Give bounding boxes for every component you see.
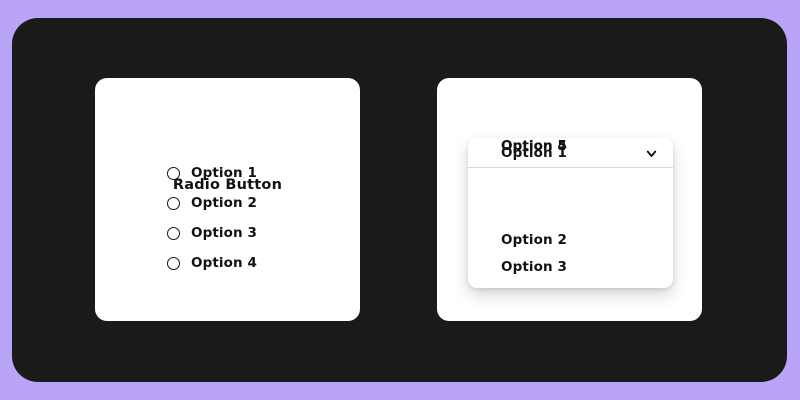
radio-circle-icon[interactable]	[167, 167, 180, 180]
radio-circle-icon[interactable]	[167, 197, 180, 210]
radio-circle-icon[interactable]	[167, 257, 180, 270]
radio-option-4[interactable]: Option 4	[167, 254, 257, 272]
radio-option-1[interactable]: Option 1	[167, 164, 257, 182]
dropdown-item-option-5[interactable]: Option 5	[501, 138, 567, 154]
dropdown-item-option-2[interactable]: Option 2	[501, 232, 567, 248]
screenshot-stage: Radio Button Option 1 Option 2 Option 3 …	[0, 0, 800, 400]
dropdown-divider	[468, 167, 673, 168]
radio-option-label: Option 2	[191, 195, 257, 211]
radio-button-card: Radio Button Option 1 Option 2 Option 3 …	[95, 78, 360, 321]
dropdown-item-option-3[interactable]: Option 3	[501, 259, 567, 275]
dropdown-list-panel: Option 1 Option 2 Option 3 Option 4 Opti…	[468, 138, 673, 288]
radio-option-label: Option 4	[191, 255, 257, 271]
radio-circle-icon[interactable]	[167, 227, 180, 240]
radio-option-2[interactable]: Option 2	[167, 194, 257, 212]
radio-option-label: Option 1	[191, 165, 257, 181]
chevron-down-icon[interactable]	[643, 145, 659, 161]
radio-option-3[interactable]: Option 3	[167, 224, 257, 242]
radio-option-label: Option 3	[191, 225, 257, 241]
dropdown-toggle[interactable]: Option 1	[468, 138, 673, 168]
